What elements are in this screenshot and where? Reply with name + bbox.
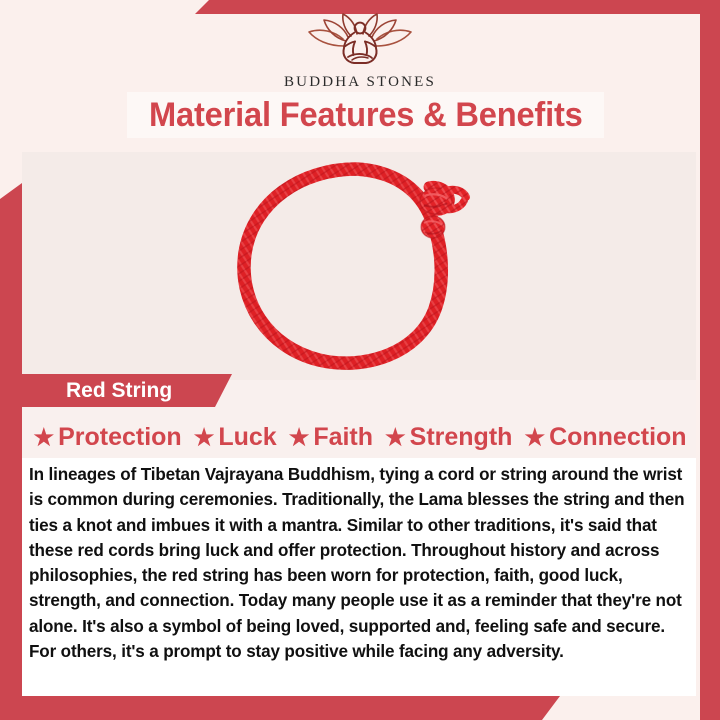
benefit-label: Connection — [549, 423, 687, 452]
description-text: In lineages of Tibetan Vajrayana Buddhis… — [22, 458, 696, 664]
star-icon: ★ — [385, 426, 406, 449]
benefit-label: Strength — [410, 423, 513, 452]
lotus-meditation-icon — [304, 10, 416, 72]
star-icon: ★ — [524, 426, 545, 449]
title-banner: Material Features & Benefits — [127, 92, 604, 138]
brand-logo: BUDDHA STONES — [0, 10, 720, 91]
frame-bar-left — [0, 183, 22, 720]
page-title: Material Features & Benefits — [149, 96, 583, 135]
product-name-label: Red String — [66, 379, 172, 403]
description-block: In lineages of Tibetan Vajrayana Buddhis… — [22, 458, 696, 696]
benefit-item: ★ Faith — [289, 423, 373, 452]
product-name-tag: Red String — [0, 374, 232, 407]
benefit-label: Protection — [58, 423, 182, 452]
frame-bar-bottom — [0, 696, 560, 720]
brand-name: BUDDHA STONES — [284, 74, 436, 91]
benefit-label: Faith — [313, 423, 373, 452]
star-icon: ★ — [33, 426, 54, 449]
star-icon: ★ — [289, 426, 310, 449]
benefit-item: ★ Strength — [385, 423, 512, 452]
infographic-poster: BUDDHA STONES Material Features & Benefi… — [0, 0, 720, 720]
benefit-item: ★ Protection — [33, 423, 181, 452]
benefit-item: ★ Luck — [194, 423, 277, 452]
benefit-label: Luck — [218, 423, 276, 452]
product-image — [22, 152, 696, 380]
red-string-bracelet-icon — [223, 155, 495, 377]
benefits-row: ★ Protection ★ Luck ★ Faith ★ Strength ★… — [36, 420, 684, 454]
benefit-item: ★ Connection — [524, 423, 686, 452]
star-icon: ★ — [194, 426, 215, 449]
frame-bar-right — [700, 0, 720, 720]
